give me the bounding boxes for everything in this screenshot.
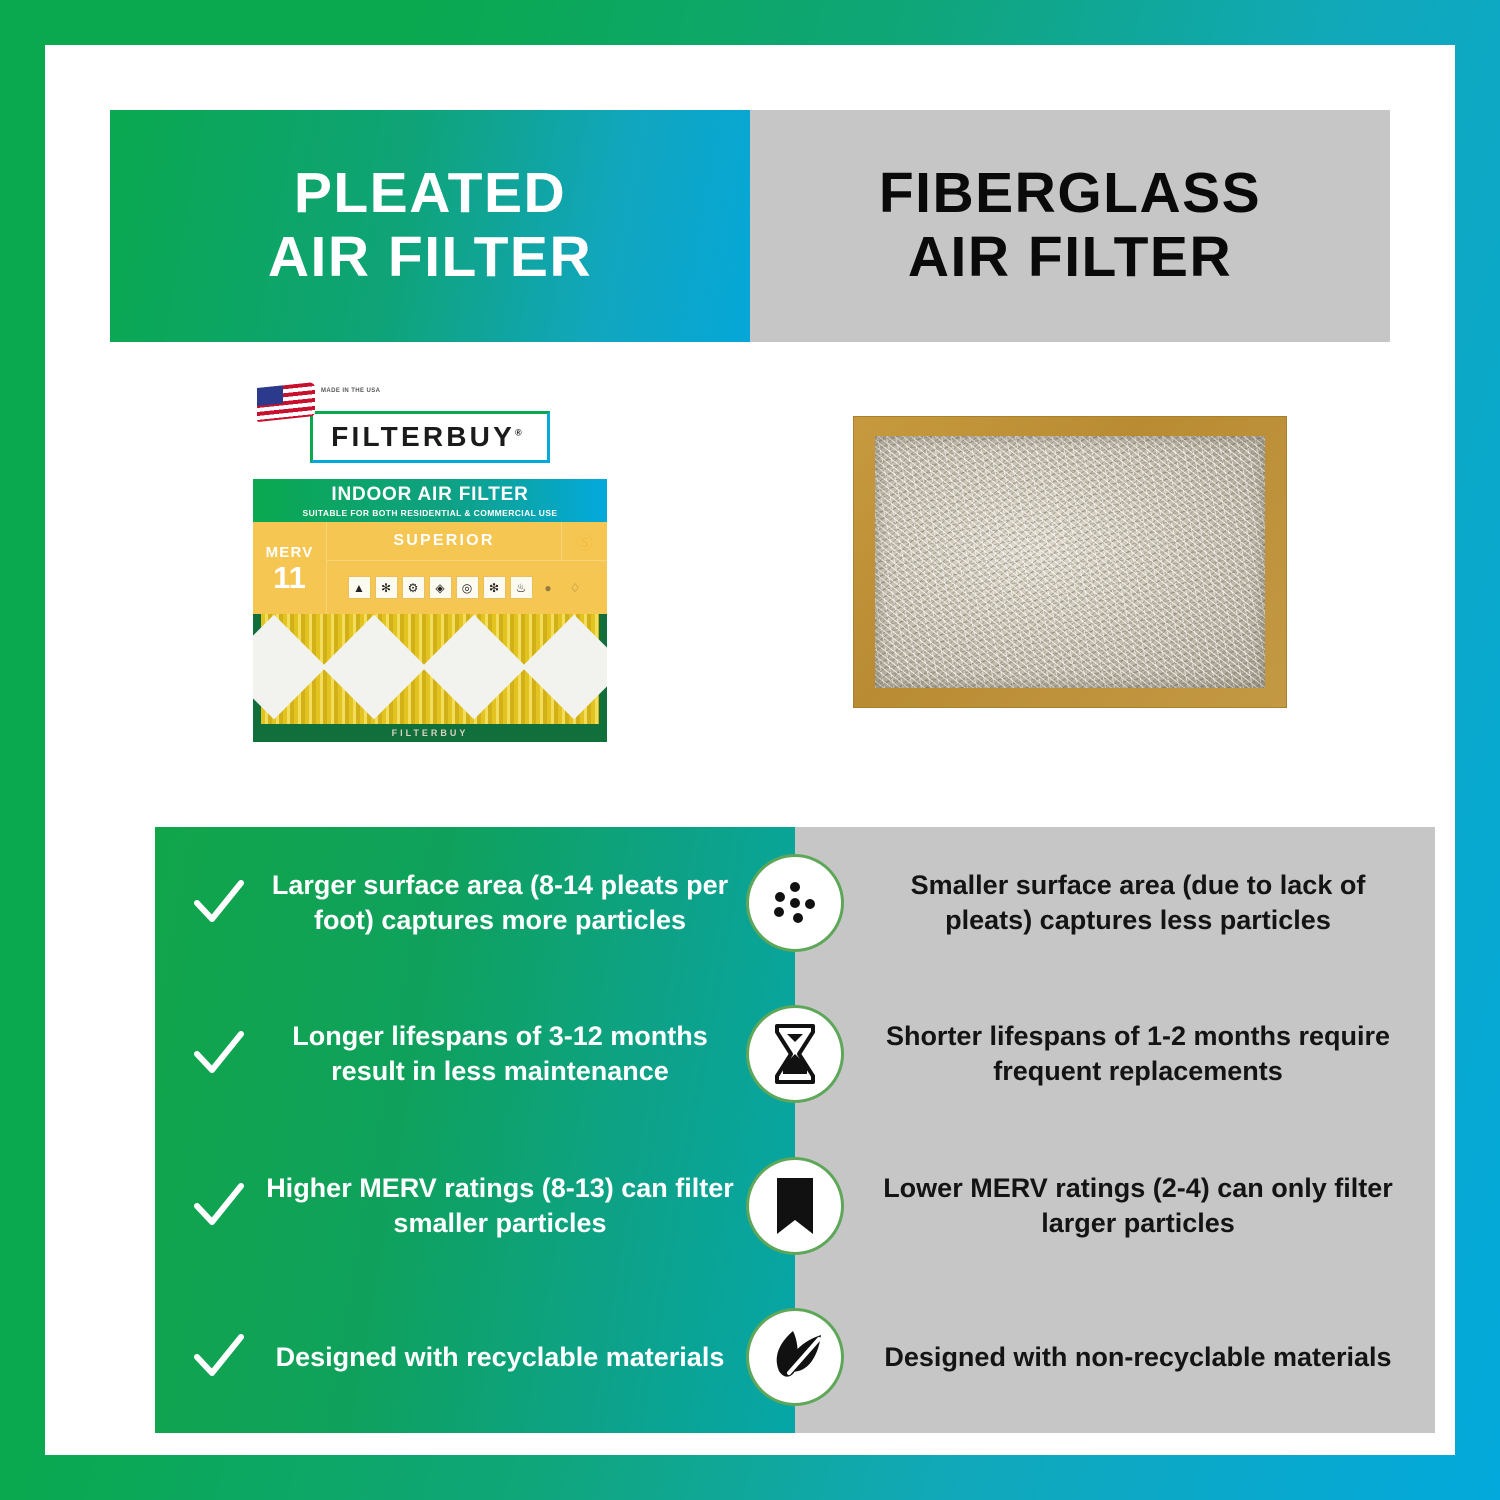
- comparison-text-pleated: Designed with recyclable materials: [265, 1340, 735, 1375]
- checkmark-icon: [191, 1026, 247, 1082]
- merv-value: 11: [273, 562, 306, 593]
- comparison-cell-fiberglass: Shorter lifespans of 1-2 months require …: [795, 1019, 1435, 1089]
- comparison-cell-pleated: Longer lifespans of 3-12 months result i…: [155, 1019, 795, 1089]
- pet-dander-icon: ❇: [483, 576, 506, 599]
- product-image-row: MADE IN THE USA FILTERBUY® INDOOR AIR FI…: [110, 342, 1390, 782]
- brand-logo-text: FILTERBUY®: [331, 421, 525, 453]
- trademark-symbol: ®: [515, 427, 525, 437]
- fiberglass-filter-image: [853, 416, 1287, 708]
- merv-badge: MERV 11: [253, 522, 327, 614]
- comparison-cell-pleated: Designed with recyclable materials: [155, 1329, 795, 1385]
- header-band: PLEATED AIR FILTER FIBERGLASS AIR FILTER: [110, 110, 1390, 342]
- box-footer-brand: FILTERBUY: [253, 724, 607, 742]
- leaf-icon: [746, 1308, 844, 1406]
- brand-logo-word: FILTERBUY: [331, 421, 515, 452]
- smoke-icon: ♨: [510, 576, 533, 599]
- box-indoor-band: INDOOR AIR FILTER SUITABLE FOR BOTH RESI…: [253, 479, 607, 522]
- infographic-canvas: PLEATED AIR FILTER FIBERGLASS AIR FILTER…: [45, 45, 1455, 1455]
- box-band-subtitle: SUITABLE FOR BOTH RESIDENTIAL & COMMERCI…: [303, 508, 558, 518]
- comparison-row: Designed with recyclable materials Desig…: [155, 1282, 1435, 1434]
- fiberglass-mesh-texture: [875, 436, 1265, 688]
- pleated-filter-box-image: MADE IN THE USA FILTERBUY® INDOOR AIR FI…: [253, 382, 607, 742]
- comparison-panel: Larger surface area (8-14 pleats per foo…: [155, 827, 1435, 1433]
- pollen-icon: ✻: [375, 576, 398, 599]
- box-header-area: MADE IN THE USA FILTERBUY®: [253, 382, 607, 479]
- usa-flag-icon: [257, 382, 315, 422]
- comparison-row: Higher MERV ratings (8-13) can filter sm…: [155, 1130, 1435, 1282]
- comparison-text-fiberglass: Lower MERV ratings (2-4) can only filter…: [875, 1171, 1401, 1241]
- header-pleated-line1: PLEATED: [294, 162, 566, 226]
- product-cell-pleated: MADE IN THE USA FILTERBUY® INDOOR AIR FI…: [110, 342, 750, 782]
- comparison-text-pleated: Larger surface area (8-14 pleats per foo…: [265, 868, 735, 938]
- header-pleated: PLEATED AIR FILTER: [110, 110, 750, 342]
- comparison-cell-fiberglass: Lower MERV ratings (2-4) can only filter…: [795, 1171, 1435, 1241]
- comparison-text-fiberglass: Designed with non-recyclable materials: [875, 1340, 1401, 1375]
- grade-label: SUPERIOR: [327, 532, 561, 550]
- box-merv-area: MERV 11 SUPERIOR Ⓢ ▲ ✻ ⚙: [253, 522, 607, 614]
- merv-label: MERV: [266, 544, 314, 561]
- hourglass-icon: [746, 1005, 844, 1103]
- comparison-text-pleated: Longer lifespans of 3-12 months result i…: [265, 1019, 735, 1089]
- comparison-cell-pleated: Higher MERV ratings (8-13) can filter sm…: [155, 1171, 795, 1241]
- ul-listed-icon: Ⓢ: [561, 522, 607, 560]
- brand-logo-frame: FILTERBUY®: [310, 411, 550, 463]
- comparison-text-fiberglass: Smaller surface area (due to lack of ple…: [875, 868, 1401, 938]
- made-in-usa-label: MADE IN THE USA: [321, 387, 380, 395]
- product-cell-fiberglass: [750, 342, 1390, 782]
- comparison-cell-pleated: Larger surface area (8-14 pleats per foo…: [155, 868, 795, 938]
- grade-row: SUPERIOR Ⓢ: [327, 522, 607, 561]
- particles-icon: [746, 854, 844, 952]
- checkmark-icon: [191, 1178, 247, 1234]
- bacteria-icon: ◈: [429, 576, 452, 599]
- header-pleated-line2: AIR FILTER: [268, 226, 592, 290]
- virus-icon: ◎: [456, 576, 479, 599]
- pleated-media-area: FILTERBUY: [253, 614, 607, 742]
- header-fiberglass: FIBERGLASS AIR FILTER: [750, 110, 1390, 342]
- odor-icon: ♢: [564, 576, 587, 599]
- comparison-row: Larger surface area (8-14 pleats per foo…: [155, 827, 1435, 979]
- dust-icon: ▲: [348, 576, 371, 599]
- capture-icon-strip: ▲ ✻ ⚙ ◈ ◎ ❇ ♨ ● ♢: [327, 561, 607, 614]
- comparison-text-pleated: Higher MERV ratings (8-13) can filter sm…: [265, 1171, 735, 1241]
- merv-right-column: SUPERIOR Ⓢ ▲ ✻ ⚙ ◈ ◎ ❇ ♨ ●: [327, 522, 607, 614]
- checkmark-icon: [191, 875, 247, 931]
- header-fiberglass-line1: FIBERGLASS: [879, 162, 1261, 226]
- comparison-cell-fiberglass: Smaller surface area (due to lack of ple…: [795, 868, 1435, 938]
- box-band-title: INDOOR AIR FILTER: [331, 484, 528, 506]
- comparison-cell-fiberglass: Designed with non-recyclable materials: [795, 1340, 1435, 1375]
- checkmark-icon: [191, 1329, 247, 1385]
- comparison-row: Longer lifespans of 3-12 months result i…: [155, 979, 1435, 1131]
- comparison-text-fiberglass: Shorter lifespans of 1-2 months require …: [875, 1019, 1401, 1089]
- bookmark-icon: [746, 1157, 844, 1255]
- infographic-root: PLEATED AIR FILTER FIBERGLASS AIR FILTER…: [0, 0, 1500, 1500]
- comparison-rows: Larger surface area (8-14 pleats per foo…: [155, 827, 1435, 1433]
- mold-icon: ⚙: [402, 576, 425, 599]
- header-fiberglass-line2: AIR FILTER: [908, 226, 1232, 290]
- allergen-icon: ●: [537, 576, 560, 599]
